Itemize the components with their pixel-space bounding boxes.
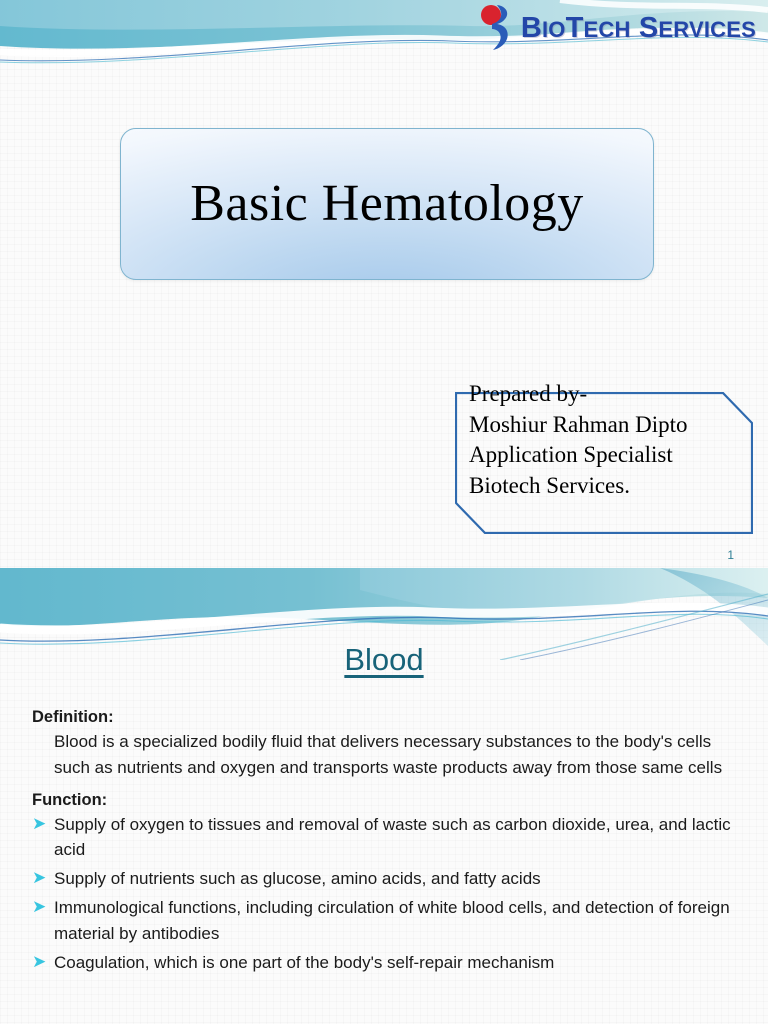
slide-2: Blood Definition: Blood is a specialized… [0,568,768,1024]
list-item: ➤ Supply of oxygen to tissues and remova… [32,812,742,864]
slide2-content: Definition: Blood is a specialized bodil… [32,708,742,986]
function-section: Function: ➤ Supply of oxygen to tissues … [32,791,742,976]
arrow-bullet-icon: ➤ [32,866,54,892]
definition-paragraph: Blood is a specialized bodily fluid that… [54,729,742,781]
slide-1: BIOTECH SERVICES Basic Hematology Prepar… [0,0,768,568]
list-item: ➤ Immunological functions, including cir… [32,895,742,947]
arrow-bullet-icon: ➤ [32,950,54,976]
prepared-by-text: Prepared by- Moshiur Rahman Dipto Applic… [469,379,759,501]
slide2-title: Blood [0,642,768,678]
slide-title-box: Basic Hematology [120,128,654,280]
list-item-text: Supply of nutrients such as glucose, ami… [54,866,742,892]
page-title: Basic Hematology [190,173,584,234]
prepared-by-callout: Prepared by- Moshiur Rahman Dipto Applic… [455,392,753,534]
list-item-text: Supply of oxygen to tissues and removal … [54,812,742,864]
presentation-page: BIOTECH SERVICES Basic Hematology Prepar… [0,0,768,1024]
arrow-bullet-icon: ➤ [32,812,54,838]
list-item-text: Coagulation, which is one part of the bo… [54,950,742,976]
biotech-services-logo: BIOTECH SERVICES [477,2,756,54]
arrow-bullet-icon: ➤ [32,895,54,921]
list-item: ➤ Coagulation, which is one part of the … [32,950,742,976]
function-heading: Function: [32,791,742,810]
list-item: ➤ Supply of nutrients such as glucose, a… [32,866,742,892]
logo-b-mark-icon [477,3,517,53]
definition-heading: Definition: [32,708,742,727]
list-item-text: Immunological functions, including circu… [54,895,742,947]
definition-section: Definition: Blood is a specialized bodil… [32,708,742,781]
slide-number: 1 [727,548,734,562]
logo-wordmark: BIOTECH SERVICES [521,12,756,45]
